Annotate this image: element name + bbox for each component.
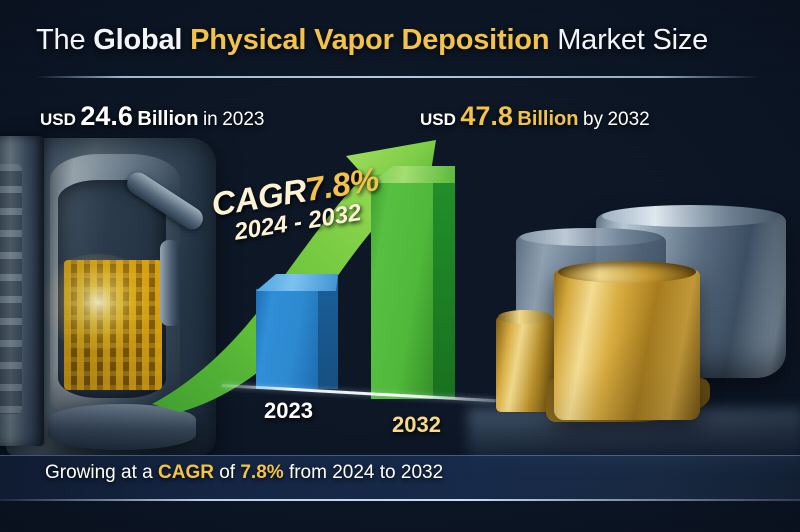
bar-chart-group: 2023 2032 — [0, 0, 800, 532]
bar-2023 — [256, 289, 318, 389]
footer-caption: Growing at a CAGR of 7.8% from 2024 to 2… — [45, 462, 443, 484]
footer-cagr-label: CAGR — [158, 462, 214, 483]
bar-2032-side-face — [433, 166, 455, 399]
footer-lead: Growing at a — [45, 462, 158, 483]
infographic-canvas: The Global Physical Vapor Deposition Mar… — [0, 0, 800, 532]
footer-tail: from 2024 to 2032 — [284, 462, 444, 483]
bar-2023-side-face — [318, 274, 338, 389]
footer-rate: 7.8% — [240, 462, 283, 483]
footer-divider — [0, 499, 800, 501]
axis-label-2023: 2023 — [264, 398, 313, 424]
footer-mid: of — [214, 462, 240, 483]
axis-label-2032: 2032 — [392, 412, 441, 438]
bar-2023-top-face — [256, 274, 338, 291]
bar-2032-top-face — [371, 166, 455, 183]
